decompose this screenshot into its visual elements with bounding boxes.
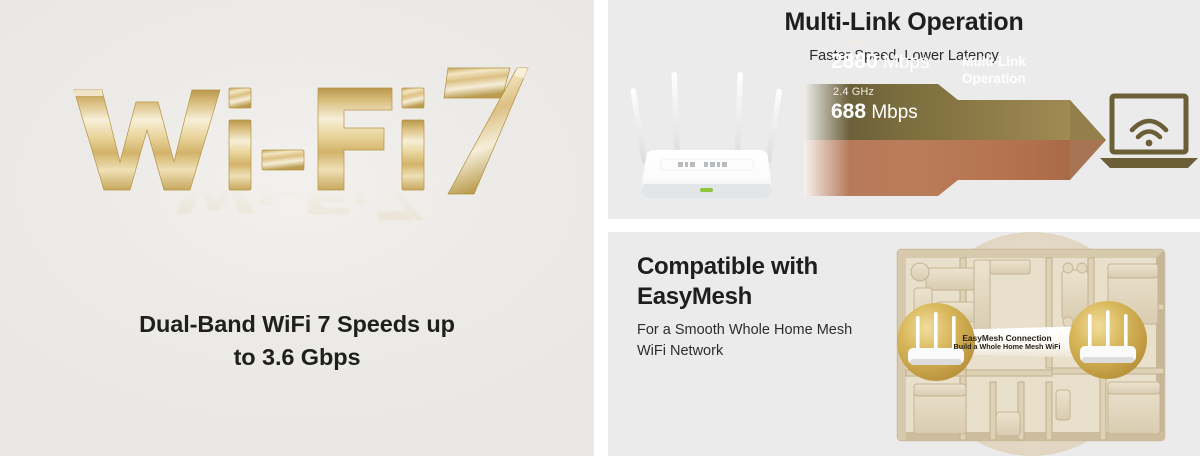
promo-banner: Dual-Band WiFi 7 Speeds upto 3.6 Gbps Mu… [0, 0, 1200, 456]
laptop-wifi-icon [1100, 96, 1198, 168]
band-label-5ghz: 5 GHz [833, 36, 865, 48]
wifi7-glyph-7 [440, 68, 528, 194]
band-label-24ghz: 2.4 GHz [833, 86, 874, 98]
wifi7-glyph-i2 [402, 88, 424, 190]
hero-caption-line1: Dual-Band WiFi 7 Speeds up [139, 311, 455, 337]
band-speed-24ghz: 688 Mbps [831, 100, 918, 124]
mlo-illustration [608, 66, 1200, 219]
band-speed-24ghz-unit: Mbps [871, 102, 917, 123]
wifi7-glyph-W [74, 90, 220, 190]
mesh-floorplan-illustration [840, 232, 1200, 456]
mlo-title: Multi-Link Operation [608, 8, 1200, 37]
hero-caption: Dual-Band WiFi 7 Speeds upto 3.6 Gbps [0, 308, 594, 375]
mlo-arrow-label: Multi-Link Operation [962, 53, 1058, 88]
wifi7-glyph-i1 [229, 88, 251, 190]
wifi7-logo [62, 62, 532, 227]
band-speed-5ghz-unit: Mbps [883, 52, 929, 73]
mesh-node-badge-right [1069, 301, 1147, 379]
hero-panel: Dual-Band WiFi 7 Speeds upto 3.6 Gbps [0, 0, 594, 456]
wifi7-glyph-hyphen [262, 150, 304, 170]
band-speed-5ghz: 2880 Mbps [831, 50, 929, 74]
multi-link-operation-panel: Multi-Link Operation Faster Speed, Lower… [608, 0, 1200, 219]
band-speed-24ghz-value: 688 [831, 100, 866, 123]
wifi7-glyph-F [318, 88, 392, 190]
router-icon [630, 72, 782, 198]
band-speed-5ghz-value: 2880 [831, 50, 878, 73]
mesh-node-badge-left [897, 303, 975, 381]
easymesh-panel: Compatible with EasyMesh For a Smooth Wh… [608, 232, 1200, 456]
hero-caption-line2: to 3.6 Gbps [234, 344, 361, 370]
